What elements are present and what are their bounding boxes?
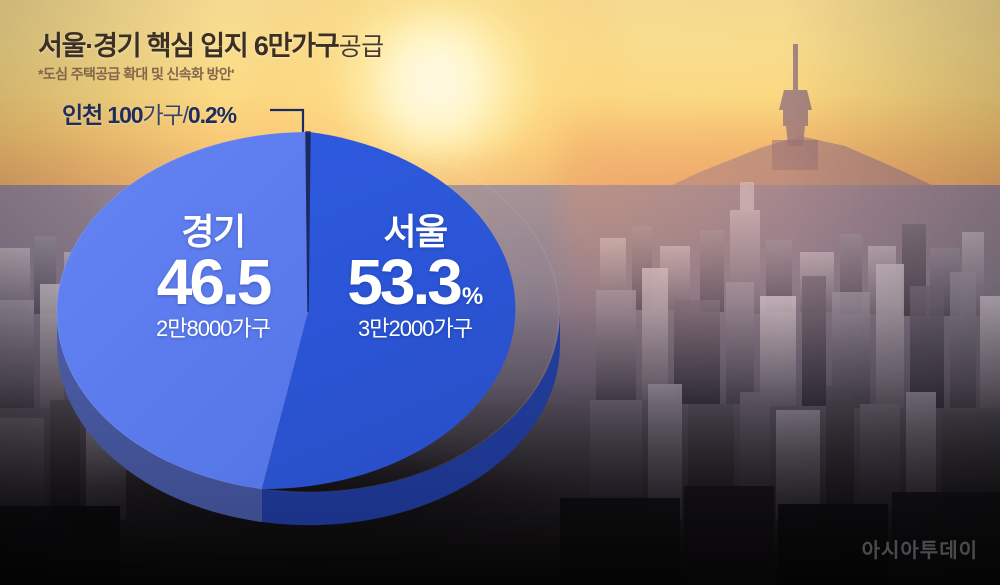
seoul-percent-value: 53.3%: [300, 250, 530, 315]
gyeonggi-percent-number: 46.5: [157, 246, 270, 318]
seoul-region-name: 서울: [300, 214, 530, 250]
seoul-percent-number: 53.3: [347, 246, 460, 318]
infographic-canvas: 서울·경기 핵심 입지 6만가구공급 *도심 주택공급 확대 및 신속화 방안'…: [0, 0, 1000, 585]
seoul-households: 3만2000가구: [300, 315, 530, 343]
seoul-label-group: 서울 53.3% 3만2000가구: [300, 214, 530, 343]
publisher-watermark: 아시아투데이: [862, 534, 978, 563]
gyeonggi-households: 2만8000가구: [108, 315, 318, 343]
gyeonggi-region-name: 경기: [108, 214, 318, 250]
gyeonggi-percent-value: 46.5: [108, 250, 318, 315]
gyeonggi-label-group: 경기 46.5 2만8000가구: [108, 214, 318, 343]
seoul-percent-unit: %: [462, 283, 483, 310]
